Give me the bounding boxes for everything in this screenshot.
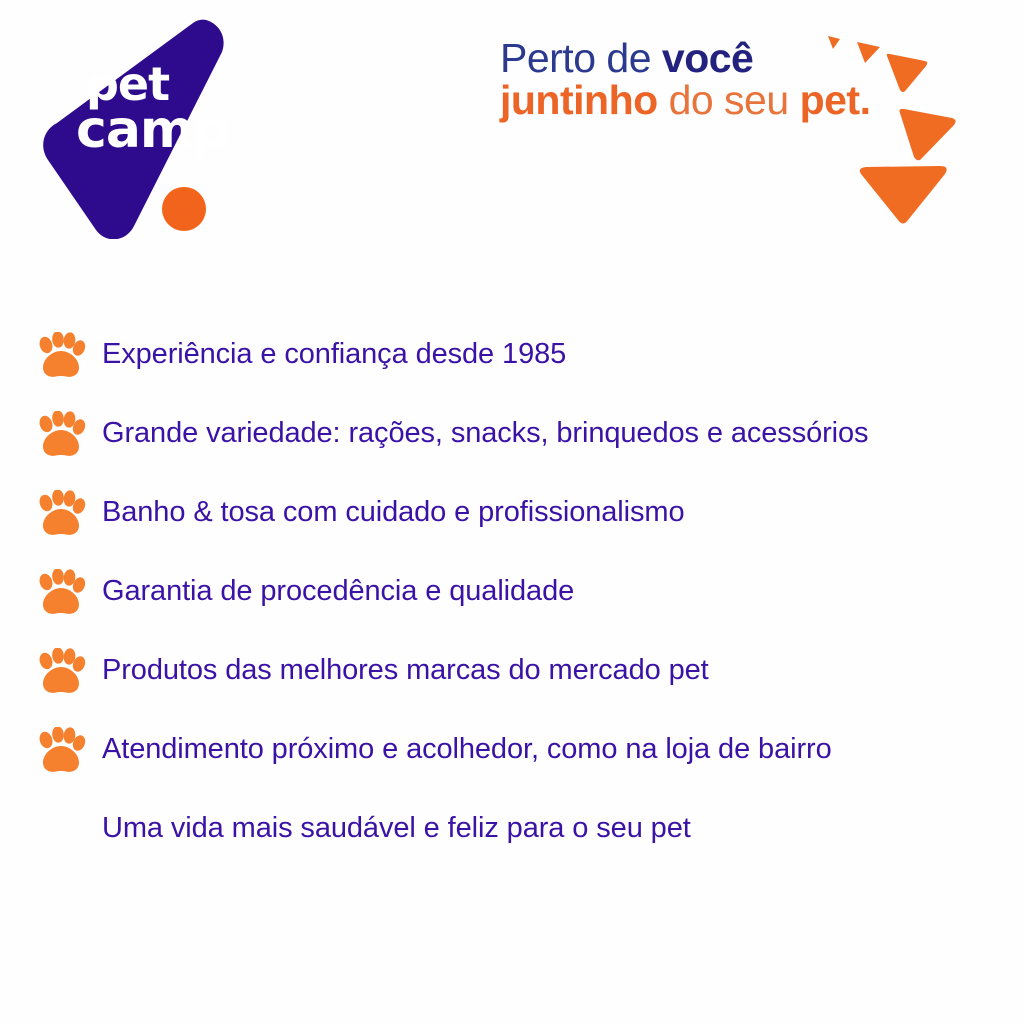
- list-item: Banho & tosa com cuidado e profissionali…: [36, 488, 1016, 546]
- list-item-label: Uma vida mais saudável e feliz para o se…: [102, 804, 691, 847]
- paw-print-icon: [36, 567, 102, 619]
- logo-dot: [162, 187, 206, 231]
- list-item-label: Garantia de procedência e qualidade: [102, 567, 574, 610]
- paw-print-icon: [36, 409, 102, 461]
- list-item-label: Produtos das melhores marcas do mercado …: [102, 646, 709, 689]
- list-item: Experiência e confiança desde 1985: [36, 330, 1016, 388]
- list-item: Produtos das melhores marcas do mercado …: [36, 646, 1016, 704]
- paw-print-icon: [36, 488, 102, 540]
- tagline-seg-pet: pet.: [800, 77, 871, 123]
- list-item-label: Atendimento próximo e acolhedor, como na…: [102, 725, 832, 768]
- header-banner: pet camp Perto de você juntinho do seu p…: [0, 0, 1024, 250]
- list-item: Atendimento próximo e acolhedor, como na…: [36, 725, 1016, 783]
- logo-wordmark-line2: camp: [76, 100, 228, 160]
- petcamp-triangle-logo[interactable]: pet camp: [38, 14, 228, 239]
- paw-print-icon-placeholder: [36, 804, 102, 856]
- list-item-label: Grande variedade: rações, snacks, brinqu…: [102, 409, 868, 452]
- tagline-seg-juntinho: juntinho: [500, 77, 658, 123]
- paw-print-icon: [36, 725, 102, 777]
- list-item-label: Banho & tosa com cuidado e profissionali…: [102, 488, 684, 531]
- tagline-line-1: Perto de você: [500, 38, 920, 78]
- paw-print-icon: [36, 646, 102, 698]
- tagline-line-2: juntinho do seu pet.: [500, 80, 920, 120]
- paw-print-icon: [36, 330, 102, 382]
- list-item-label: Experiência e confiança desde 1985: [102, 330, 566, 373]
- triangle-icon-5: [860, 166, 947, 224]
- list-item: Garantia de procedência e qualidade: [36, 567, 1016, 625]
- list-item: Grande variedade: rações, snacks, brinqu…: [36, 409, 1016, 467]
- brand-tagline: Perto de você juntinho do seu pet.: [500, 38, 920, 120]
- tagline-seg-perto-de: Perto de: [500, 35, 662, 81]
- tagline-seg-voce: você: [662, 35, 753, 81]
- list-item: Uma vida mais saudável e feliz para o se…: [36, 804, 1016, 862]
- tagline-seg-do-seu: do seu: [658, 77, 800, 123]
- feature-list: Experiência e confiança desde 1985 Grand…: [36, 330, 1016, 883]
